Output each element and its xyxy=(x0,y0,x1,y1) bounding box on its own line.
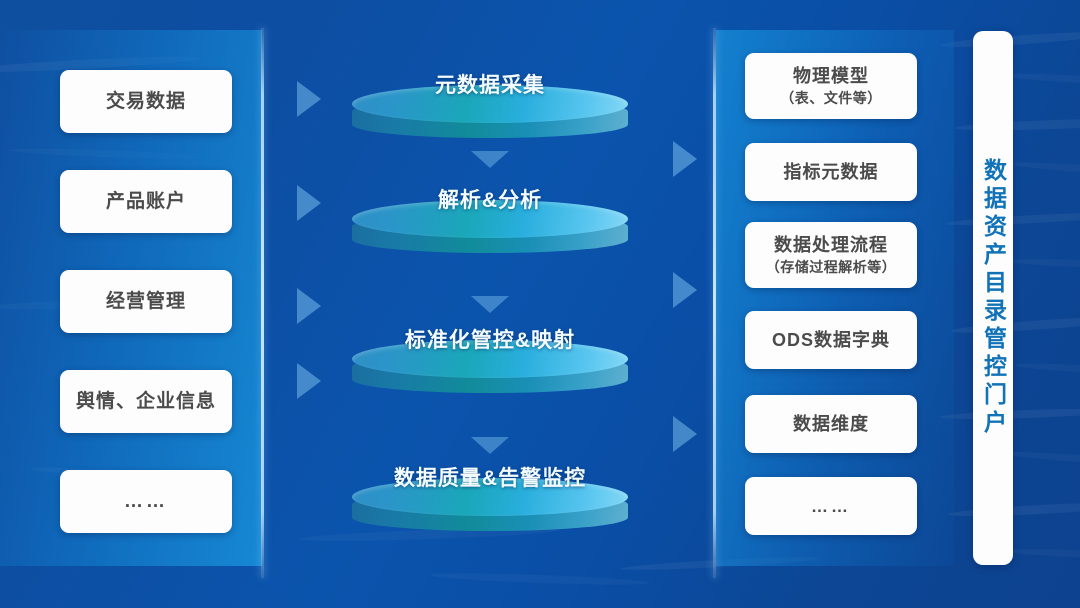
source-card-label: …… xyxy=(124,492,168,511)
output-card-title: 数据处理流程 xyxy=(774,234,888,257)
output-card-subtitle: （存储过程解析等） xyxy=(766,258,897,276)
portal-label: 数据资产目录管控门户 xyxy=(982,158,1005,438)
output-card-title: 指标元数据 xyxy=(784,161,879,184)
flow-arrow-down-icon xyxy=(471,296,509,313)
flow-arrow-right-icon xyxy=(297,363,321,399)
flow-arrow-right-icon xyxy=(673,416,697,452)
output-card[interactable]: 指标元数据 xyxy=(745,143,917,201)
output-card[interactable]: 物理模型 （表、文件等） xyxy=(745,53,917,119)
source-card[interactable]: 经营管理 xyxy=(60,270,232,333)
pipeline-stage[interactable]: 元数据采集 xyxy=(352,85,628,141)
output-card-title: 物理模型 xyxy=(793,65,869,88)
source-card[interactable]: 舆情、企业信息 xyxy=(60,370,232,433)
portal-strip[interactable]: 数据资产目录管控门户 xyxy=(973,31,1013,565)
divider-line-left xyxy=(261,28,264,578)
output-card[interactable]: 数据处理流程 （存储过程解析等） xyxy=(745,222,917,288)
pipeline-stage[interactable]: 标准化管控&映射 xyxy=(352,340,628,396)
source-card-label: 舆情、企业信息 xyxy=(76,390,216,414)
flow-arrow-down-icon xyxy=(471,437,509,454)
divider-line-right xyxy=(713,28,716,578)
source-card[interactable]: 产品账户 xyxy=(60,170,232,233)
background-wave xyxy=(10,147,200,161)
source-card-label: 交易数据 xyxy=(106,90,186,114)
flow-arrow-down-icon xyxy=(471,151,509,168)
pipeline-stage-label: 标准化管控&映射 xyxy=(352,324,628,354)
output-card-title: …… xyxy=(811,498,851,515)
background-wave xyxy=(948,500,1080,519)
output-card[interactable]: 数据维度 xyxy=(745,395,917,453)
pipeline-stage[interactable]: 解析&分析 xyxy=(352,200,628,256)
background-wave xyxy=(620,555,820,572)
flow-arrow-right-icon xyxy=(297,185,321,221)
source-card-label: 产品账户 xyxy=(106,190,186,214)
source-card-label: 经营管理 xyxy=(106,290,186,314)
background-wave xyxy=(1010,160,1080,177)
background-wave xyxy=(430,571,650,587)
output-card[interactable]: ODS数据字典 xyxy=(745,311,917,369)
diagram-canvas: 交易数据 产品账户 经营管理 舆情、企业信息 …… 元数据采集 解析&分析 标准… xyxy=(0,0,1080,608)
pipeline-stage[interactable]: 数据质量&告警监控 xyxy=(352,478,628,534)
pipeline-stage-label: 元数据采集 xyxy=(352,69,628,99)
background-wave xyxy=(1015,362,1080,376)
background-wave xyxy=(1005,548,1080,560)
background-wave xyxy=(1005,257,1080,269)
flow-arrow-right-icon xyxy=(297,288,321,324)
flow-arrow-right-icon xyxy=(297,81,321,117)
source-card[interactable]: 交易数据 xyxy=(60,70,232,133)
background-wave xyxy=(950,313,1080,335)
source-card[interactable]: …… xyxy=(60,470,232,533)
pipeline-stage-label: 解析&分析 xyxy=(352,184,628,214)
output-card[interactable]: …… xyxy=(745,477,917,535)
output-card-title: 数据维度 xyxy=(793,413,869,436)
pipeline-stage-label: 数据质量&告警监控 xyxy=(352,462,628,492)
output-card-subtitle: （表、文件等） xyxy=(780,89,882,107)
flow-arrow-right-icon xyxy=(673,141,697,177)
output-card-title: ODS数据字典 xyxy=(772,329,890,352)
flow-arrow-right-icon xyxy=(673,272,697,308)
